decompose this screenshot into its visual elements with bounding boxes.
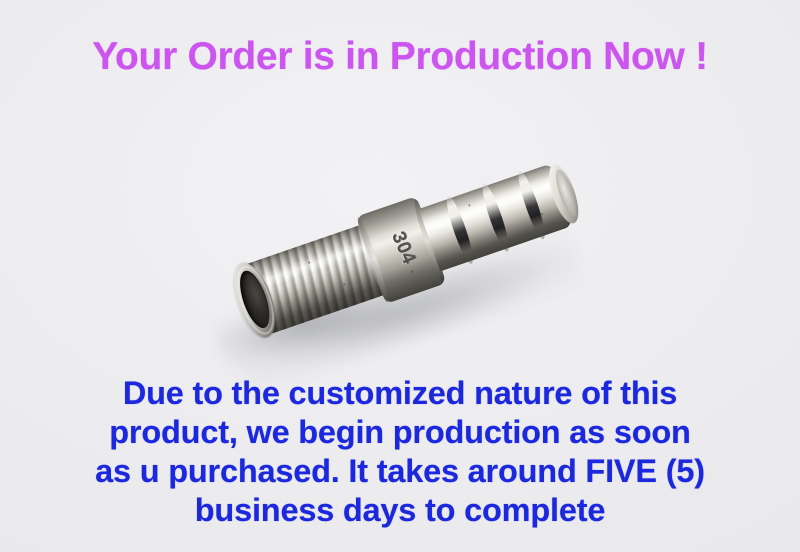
production-notice: Due to the customized nature of this pro… [0,374,800,530]
notice-line: product, we begin production as soon [0,413,800,452]
promo-banner: Your Order is in Production Now ! 304 [0,0,800,552]
product-photo: 304 [175,150,615,365]
notice-line: business days to complete [0,491,800,530]
notice-line: as u purchased. It takes around FIVE (5) [0,452,800,491]
page-title: Your Order is in Production Now ! [0,36,800,79]
notice-line: Due to the customized nature of this [0,374,800,413]
